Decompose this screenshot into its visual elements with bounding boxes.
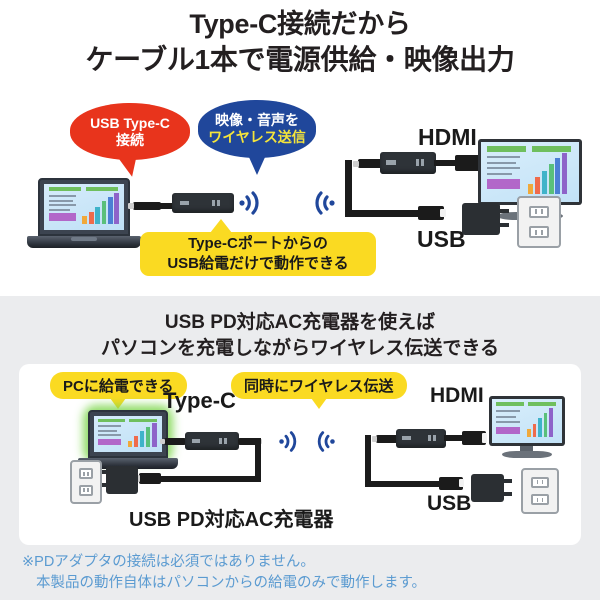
wifi-waves-icon [278, 430, 301, 453]
label-hdmi: HDMI [418, 124, 477, 151]
top-section: Type-C接続だから ケーブル1本で電源供給・映像出力 USB Type-C … [0, 0, 600, 296]
screen-chart-icon [492, 399, 562, 443]
cable-segment [159, 476, 261, 482]
callout-wireless-av: 映像・音声を ワイヤレス送信 [198, 100, 316, 158]
pill-simultaneous-wireless: 同時にワイヤレス伝送 [231, 372, 407, 399]
laptop-lid [88, 410, 168, 458]
footnote: ※PDアダプタの接続は必須ではありません。 本製品の動作自体はパソコンからの給電… [22, 552, 582, 594]
label-pd-charger: USB PD対応AC充電器 [129, 503, 333, 532]
callout-usb-typec-line2: 接続 [116, 132, 144, 149]
pill-simultaneous-wireless-label: 同時にワイヤレス伝送 [244, 375, 394, 396]
label-hdmi: HDMI [430, 384, 484, 408]
callout-typec-power-line1: Type-Cポートからの [188, 234, 328, 254]
outlet-socket [79, 485, 94, 495]
usb-dongle-icon [185, 432, 239, 450]
label-usb: USB [427, 492, 471, 516]
usb-connector [439, 477, 463, 490]
usbc-connector [139, 473, 161, 484]
title-line-1: Type-C接続だから [0, 6, 600, 42]
cable-segment [444, 435, 464, 441]
usbc-connector [164, 438, 186, 445]
label-usb: USB [417, 226, 466, 253]
receiver-dongle-icon [380, 152, 436, 174]
cable-segment [365, 481, 445, 487]
outlet-socket [79, 468, 94, 478]
footnote-line-1: ※PDアダプタの接続は必須ではありません。 [22, 554, 315, 570]
callout-usb-typec-line1: USB Type-C [90, 115, 170, 132]
diagram-card: PCに給電できる 同時にワイヤレス伝送 [19, 364, 581, 545]
pill-tail [311, 398, 327, 409]
wifi-waves-icon [313, 430, 336, 453]
wall-outlet-icon [70, 460, 102, 504]
usb-dongle-icon [172, 193, 234, 213]
callout-wireless-av-line1: 映像・音声を [215, 112, 299, 129]
callout-tail [210, 219, 232, 233]
laptop-lid [38, 178, 130, 236]
callout-wireless-av-line2: ワイヤレス送信 [208, 129, 306, 146]
monitor-stand [502, 451, 552, 458]
bubble-tail [119, 155, 141, 178]
middle-section: USB PD対応AC充電器を使えば パソコンを充電しながらワイヤレス伝送できる … [0, 296, 600, 600]
pill-tail [110, 398, 126, 409]
wifi-waves-icon [310, 190, 336, 216]
cable-segment [365, 435, 371, 487]
title-line-2: ケーブル1本で電源供給・映像出力 [0, 42, 600, 78]
callout-typec-power-line2: USB給電だけで動作できる [167, 254, 348, 274]
screen-chart-icon [94, 416, 162, 452]
middle-heading-line-2: パソコンを充電しながらワイヤレス伝送できる [0, 336, 600, 362]
product-infographic: Type-C接続だから ケーブル1本で電源供給・映像出力 USB Type-C … [0, 0, 600, 600]
wall-outlet-icon [517, 196, 561, 248]
ac-adapter-icon [471, 474, 504, 502]
outlet-socket [529, 206, 550, 218]
ac-adapter-icon [106, 466, 138, 494]
outlet-socket [529, 226, 550, 238]
receiver-dongle-icon [396, 429, 446, 448]
screen-chart-icon [44, 184, 124, 230]
page-title: Type-C接続だから ケーブル1本で電源供給・映像出力 [0, 6, 600, 78]
usbc-connector [133, 202, 161, 210]
callout-typec-power: Type-Cポートからの USB給電だけで動作できる [140, 232, 376, 276]
usb-connector [418, 206, 444, 220]
usbc-connector [376, 435, 398, 443]
monitor-screen [481, 142, 579, 202]
laptop-touchpad [71, 237, 97, 241]
screen-chart-icon [481, 142, 579, 202]
monitor-icon [489, 396, 565, 446]
pill-pc-power-label: PCに給電できる [63, 375, 174, 396]
middle-heading-line-1: USB PD対応AC充電器を使えば [0, 310, 600, 336]
ac-adapter-icon [462, 203, 500, 235]
outlet-socket [531, 494, 549, 505]
monitor-screen [492, 399, 562, 443]
wifi-waves-icon [238, 190, 264, 216]
laptop-icon [38, 178, 130, 248]
laptop-screen [44, 184, 124, 230]
wall-outlet-icon [521, 468, 559, 514]
hdmi-connector [462, 431, 486, 445]
cable-segment [345, 160, 352, 216]
callout-usb-typec: USB Type-C 接続 [70, 103, 190, 160]
label-typec: Type-C [163, 388, 236, 414]
bubble-tail [248, 155, 266, 175]
cable-segment [345, 210, 423, 217]
laptop-icon [88, 410, 168, 468]
footnote-line-2: 本製品の動作自体はパソコンからの給電のみで動作します。 [36, 573, 582, 594]
middle-heading: USB PD対応AC充電器を使えば パソコンを充電しながらワイヤレス伝送できる [0, 310, 600, 362]
laptop-screen [94, 416, 162, 452]
outlet-socket [531, 477, 549, 488]
